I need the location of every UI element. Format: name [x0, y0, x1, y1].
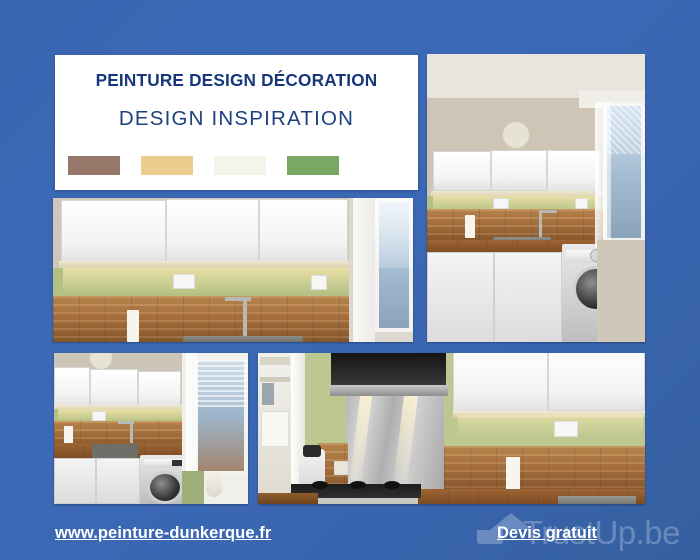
quote-cta-link[interactable]: Devis gratuit [497, 524, 597, 543]
photo-kitchen-sink-window [54, 353, 248, 504]
swatch-brown [68, 156, 120, 175]
page-title: PEINTURE DESIGN DÉCORATION [55, 70, 418, 91]
photo-kitchen-wall-units-window [53, 198, 413, 342]
photo-kitchen-hood-hob [258, 353, 645, 504]
page-subtitle: DESIGN INSPIRATION [55, 107, 418, 131]
header-card: PEINTURE DESIGN DÉCORATION DESIGN INSPIR… [55, 55, 418, 190]
swatch-green [287, 156, 339, 175]
photo-kitchen-washing-machine [427, 54, 645, 342]
website-link[interactable]: www.peinture-dunkerque.fr [55, 524, 271, 543]
color-palette [68, 156, 339, 175]
swatch-cream [214, 156, 266, 175]
swatch-tan [141, 156, 193, 175]
poster-canvas: PEINTURE DESIGN DÉCORATION DESIGN INSPIR… [0, 0, 700, 560]
